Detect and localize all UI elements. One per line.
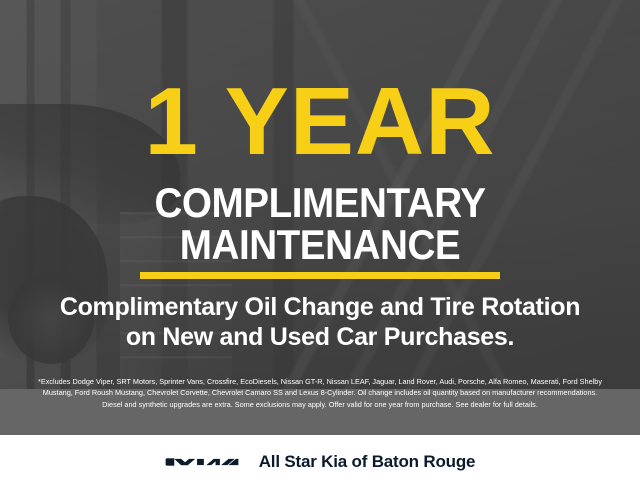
disclaimer-line-3: Diesel and synthetic upgrades are extra.…	[14, 399, 626, 410]
tagline-line-1: Complimentary Oil Change and Tire Rotati…	[0, 292, 640, 322]
hero-copy: 1 YEAR COMPLIMENTARY MAINTENANCE Complim…	[0, 0, 640, 435]
tagline-line-2: on New and Used Car Purchases.	[0, 322, 640, 352]
headline-year: 1 YEAR	[0, 74, 640, 170]
headline-complimentary: COMPLIMENTARY	[26, 182, 615, 224]
disclaimer-line-2: Mustang, Ford Roush Mustang, Chevrolet C…	[14, 387, 626, 398]
hero-section: 1 YEAR COMPLIMENTARY MAINTENANCE Complim…	[0, 0, 640, 435]
footer-bar: All Star Kia of Baton Rouge	[0, 435, 640, 488]
kia-logo	[165, 452, 239, 472]
disclaimer-text: *Excludes Dodge Viper, SRT Motors, Sprin…	[14, 376, 626, 410]
headline-maintenance: MAINTENANCE	[26, 224, 615, 266]
maintenance-promo-banner: 1 YEAR COMPLIMENTARY MAINTENANCE Complim…	[0, 0, 640, 488]
disclaimer-line-1: *Excludes Dodge Viper, SRT Motors, Sprin…	[14, 376, 626, 387]
yellow-divider-bar	[140, 272, 500, 279]
dealer-name: All Star Kia of Baton Rouge	[259, 452, 476, 472]
